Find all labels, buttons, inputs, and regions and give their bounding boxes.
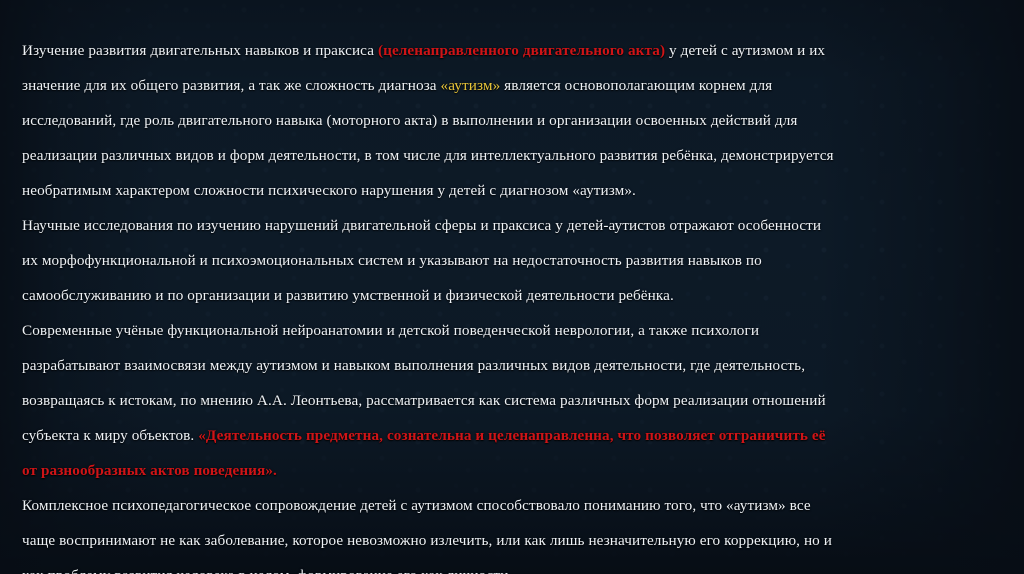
text-line: исследований, где роль двигательного нав… (22, 103, 1006, 138)
text-line: от разнообразных актов поведения». (22, 453, 1006, 488)
highlighted-text-red: от разнообразных актов поведения». (22, 462, 277, 479)
body-text-run: субъекта к миру объектов. (22, 427, 198, 444)
body-text-run: Комплексное психопедагогическое сопровож… (22, 497, 811, 514)
body-text-run: Изучение развития двигательных навыков и… (22, 42, 378, 59)
text-line: чаще воспринимают не как заболевание, ко… (22, 523, 1006, 558)
text-line: Изучение развития двигательных навыков и… (22, 33, 1006, 68)
text-line: субъекта к миру объектов. «Деятельность … (22, 418, 1006, 453)
paragraph-1: Изучение развития двигательных навыков и… (0, 0, 1024, 208)
body-text-run: самообслуживанию и по организации и разв… (22, 287, 674, 304)
text-line: их морфофункциональной и психоэмоциональ… (22, 243, 1006, 278)
text-line: возвращаясь к истокам, по мнению А.А. Ле… (22, 383, 1006, 418)
text-line: разрабатывают взаимосвязи между аутизмом… (22, 348, 1006, 383)
body-text-run: необратимым характером сложности психиче… (22, 182, 636, 199)
highlighted-text-gold: «аутизм» (441, 77, 501, 94)
slide-text-body: Изучение развития двигательных навыков и… (0, 0, 1024, 574)
text-line: Научные исследования по изучению нарушен… (22, 208, 1006, 243)
body-text-run: является основополагающим корнем для (500, 77, 772, 94)
presentation-slide: Изучение развития двигательных навыков и… (0, 0, 1024, 574)
text-line: значение для их общего развития, а так ж… (22, 68, 1006, 103)
body-text-run: реализации различных видов и форм деятел… (22, 147, 834, 164)
body-text-run: как проблему развития человека в целом, … (22, 567, 512, 574)
body-text-run: Современные учёные функциональной нейроа… (22, 322, 759, 339)
body-text-run: значение для их общего развития, а так ж… (22, 77, 441, 94)
body-text-run: возвращаясь к истокам, по мнению А.А. Ле… (22, 392, 826, 409)
text-line: реализации различных видов и форм деятел… (22, 138, 1006, 173)
text-line: необратимым характером сложности психиче… (22, 173, 1006, 208)
body-text-run: чаще воспринимают не как заболевание, ко… (22, 532, 832, 549)
body-text-run: у детей с аутизмом и их (665, 42, 825, 59)
paragraph-4: Комплексное психопедагогическое сопровож… (0, 488, 1024, 574)
body-text-run: исследований, где роль двигательного нав… (22, 112, 798, 129)
body-text-run: разрабатывают взаимосвязи между аутизмом… (22, 357, 805, 374)
highlighted-text-red: «Деятельность предметна, сознательна и ц… (198, 427, 825, 444)
paragraph-2: Научные исследования по изучению нарушен… (0, 208, 1024, 313)
body-text-run: их морфофункциональной и психоэмоциональ… (22, 252, 762, 269)
text-line: как проблему развития человека в целом, … (22, 558, 1006, 574)
text-line: Современные учёные функциональной нейроа… (22, 313, 1006, 348)
paragraph-3: Современные учёные функциональной нейроа… (0, 313, 1024, 488)
highlighted-text-red: (целенаправленного двигательного акта) (378, 42, 665, 59)
text-line: Комплексное психопедагогическое сопровож… (22, 488, 1006, 523)
body-text-run: Научные исследования по изучению нарушен… (22, 217, 821, 234)
text-line: самообслуживанию и по организации и разв… (22, 278, 1006, 313)
